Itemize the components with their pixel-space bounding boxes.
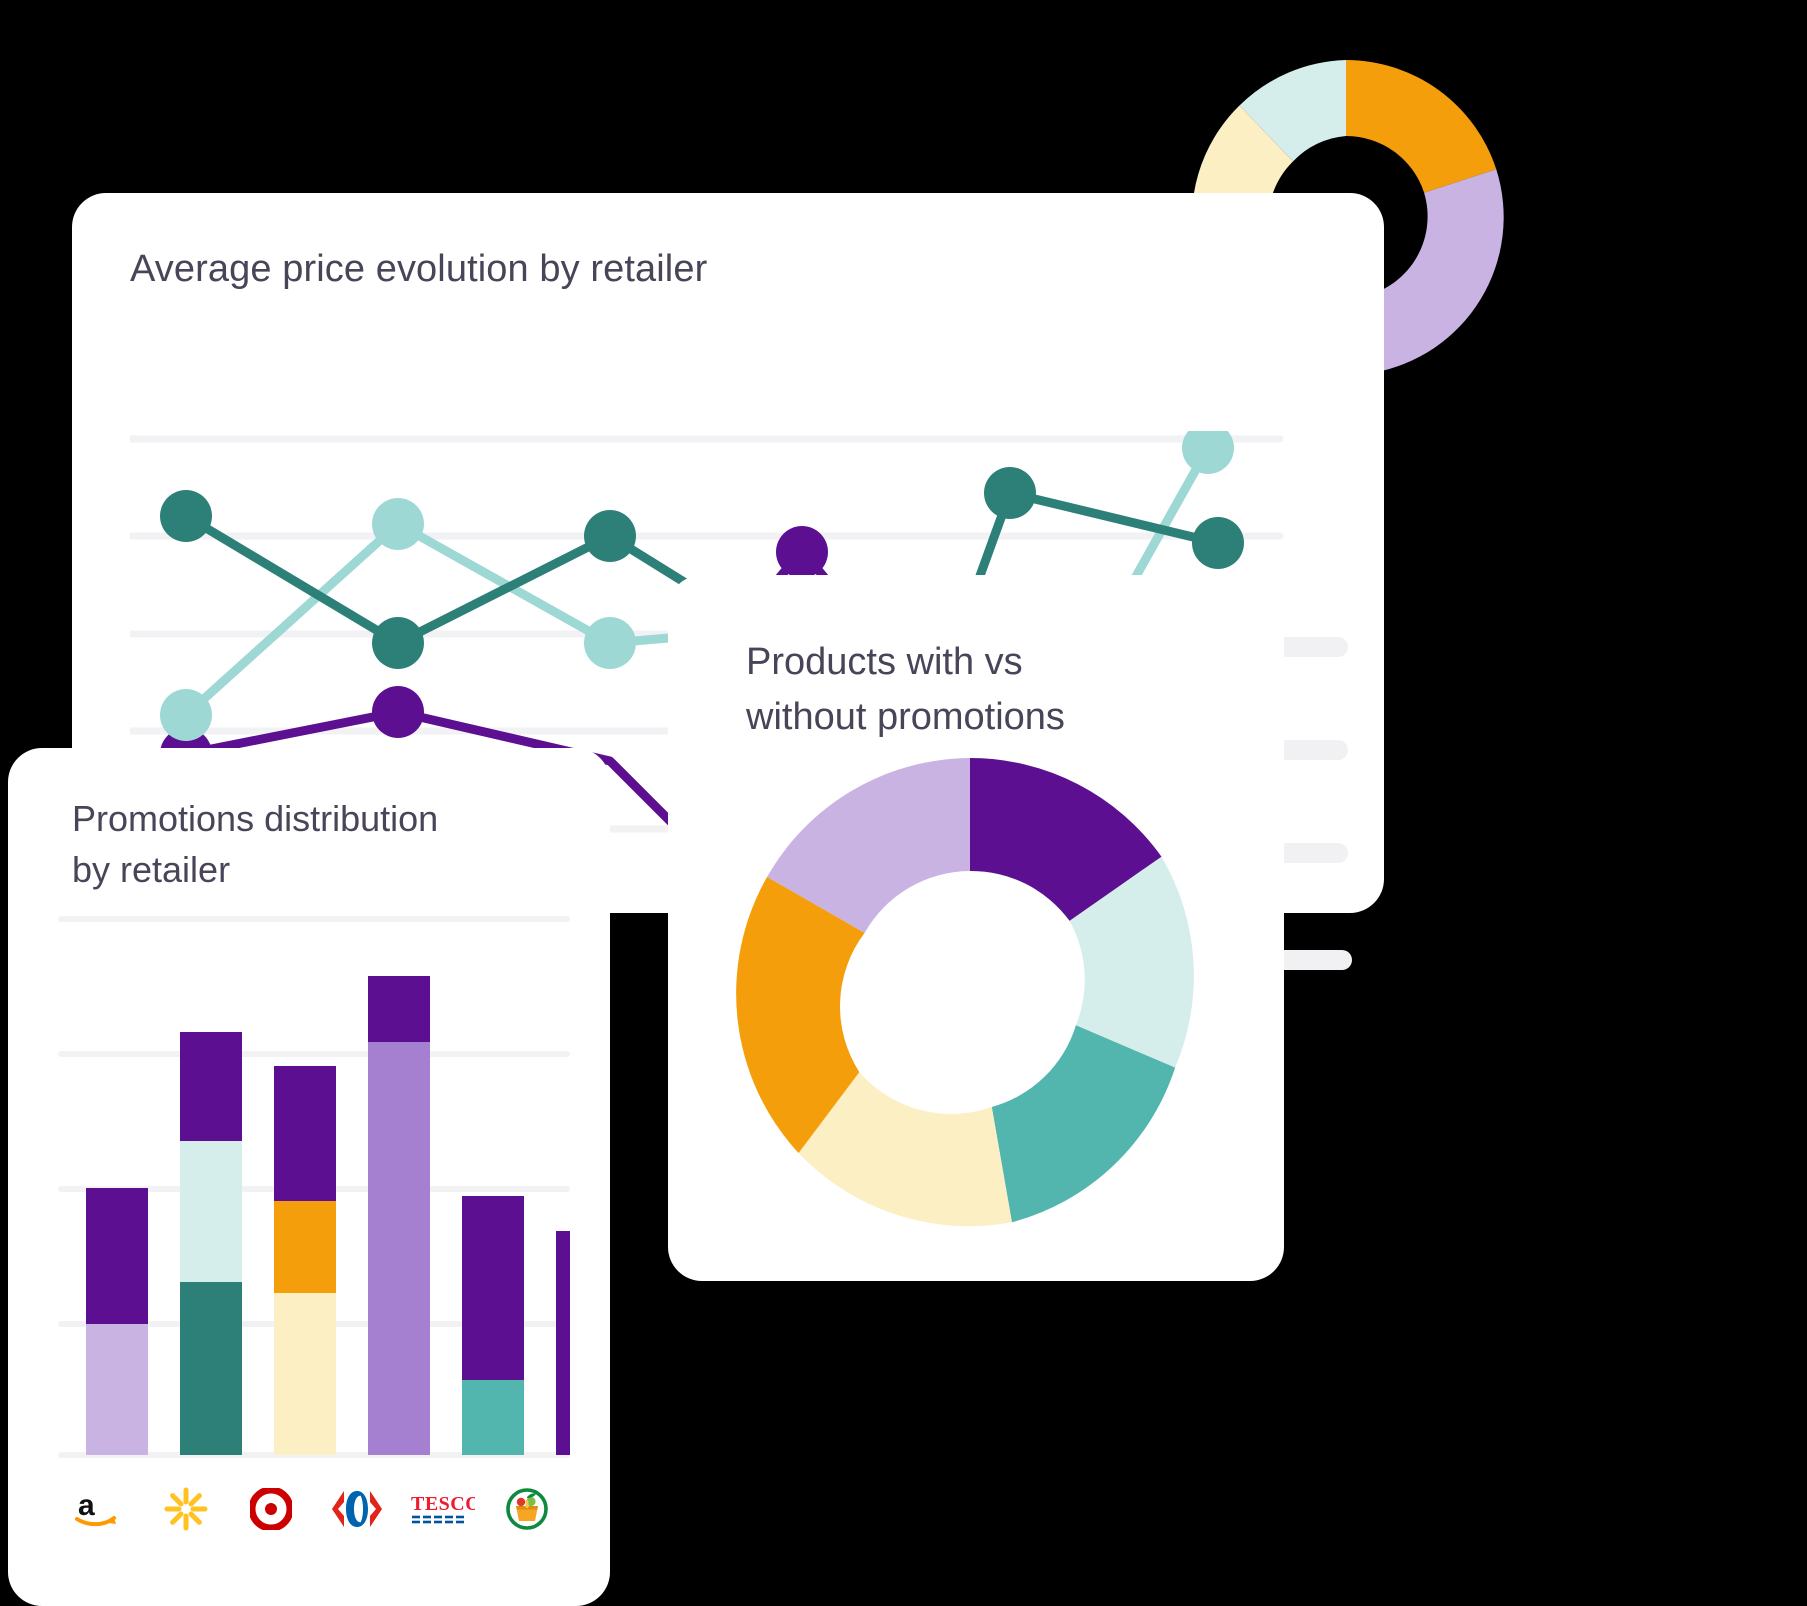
retailer-logo-row: a <box>58 1466 570 1552</box>
target-logo <box>250 1488 292 1530</box>
bar-target-segment-cream <box>274 1292 336 1455</box>
table-row[interactable] <box>556 1231 570 1455</box>
series-deep-teal-point-2 <box>372 617 424 669</box>
walmart-logo <box>164 1487 208 1531</box>
card-promotions-distribution: Promotions distribution by retailer <box>8 748 610 1606</box>
table-row[interactable] <box>462 1196 524 1455</box>
series-purple-point-2 <box>372 686 424 738</box>
bar-walmart-segment-deep-purple <box>180 1032 242 1141</box>
series-light-teal-point-1 <box>160 689 212 741</box>
x-axis-label-target[interactable] <box>229 1466 314 1552</box>
bar-amazon-segment-light-purple <box>86 1323 148 1455</box>
bar-walmart-segment-deep-teal <box>180 1281 242 1455</box>
donut-chart-products-promotions <box>735 758 1205 1228</box>
legend-placeholder-4[interactable] <box>1272 950 1352 970</box>
basket-logo <box>505 1487 549 1531</box>
table-row[interactable] <box>274 1066 336 1455</box>
series-deep-teal-point-5 <box>1192 517 1244 569</box>
page-title-products-promotions: Products with vs without promotions <box>746 635 1065 745</box>
x-axis-label-amazon[interactable]: a <box>58 1466 143 1552</box>
x-axis-label-carrefour[interactable] <box>314 1466 399 1552</box>
series-light-teal-point-2 <box>372 498 424 550</box>
table-row[interactable] <box>180 1032 242 1455</box>
bar-amazon-segment-deep-purple <box>86 1188 148 1324</box>
amazon-logo: a <box>74 1489 128 1529</box>
x-axis-label-tesco[interactable]: TESCO <box>399 1466 484 1552</box>
card-products-with-vs-without-promotions: Products with vs without promotions <box>668 575 1284 1281</box>
top-donut-slice-orange <box>1346 60 1496 193</box>
carrefour-logo <box>330 1488 384 1530</box>
series-deep-teal-point-3 <box>584 510 636 562</box>
svg-text:TESCO: TESCO <box>411 1493 475 1515</box>
table-row[interactable] <box>86 1188 148 1455</box>
bar-tesco-segment-medium-teal <box>462 1379 524 1455</box>
series-light-teal-point-4 <box>1182 431 1234 474</box>
bar-carrefour-segment-deep-purple <box>368 976 430 1042</box>
bar-chart-promotions-distribution <box>58 911 570 1459</box>
page-title-promotions-distribution: Promotions distribution by retailer <box>72 793 438 895</box>
series-deep-teal-point-1 <box>160 490 212 542</box>
page-title-average-price: Average price evolution by retailer <box>130 248 707 291</box>
bar-target-segment-orange <box>274 1200 336 1293</box>
series-deep-teal-point-4 <box>984 467 1036 519</box>
x-axis-label-basket[interactable] <box>485 1466 570 1552</box>
tesco-logo: TESCO <box>409 1488 475 1530</box>
bar-basket-segment-deep-purple <box>556 1231 570 1455</box>
x-axis-label-walmart[interactable] <box>143 1466 228 1552</box>
bar-tesco-segment-deep-purple <box>462 1196 524 1380</box>
bar-carrefour-segment-mid-purple <box>368 1041 430 1455</box>
svg-text:a: a <box>78 1489 95 1522</box>
series-light-teal-point-3 <box>584 617 636 669</box>
table-row[interactable] <box>368 976 430 1455</box>
bar-target-segment-deep-purple <box>274 1066 336 1201</box>
dashboard-stage: Average price evolution by retailer <box>0 0 1807 1606</box>
bar-walmart-segment-pale-teal <box>180 1140 242 1282</box>
donut-slices <box>736 758 1194 1226</box>
